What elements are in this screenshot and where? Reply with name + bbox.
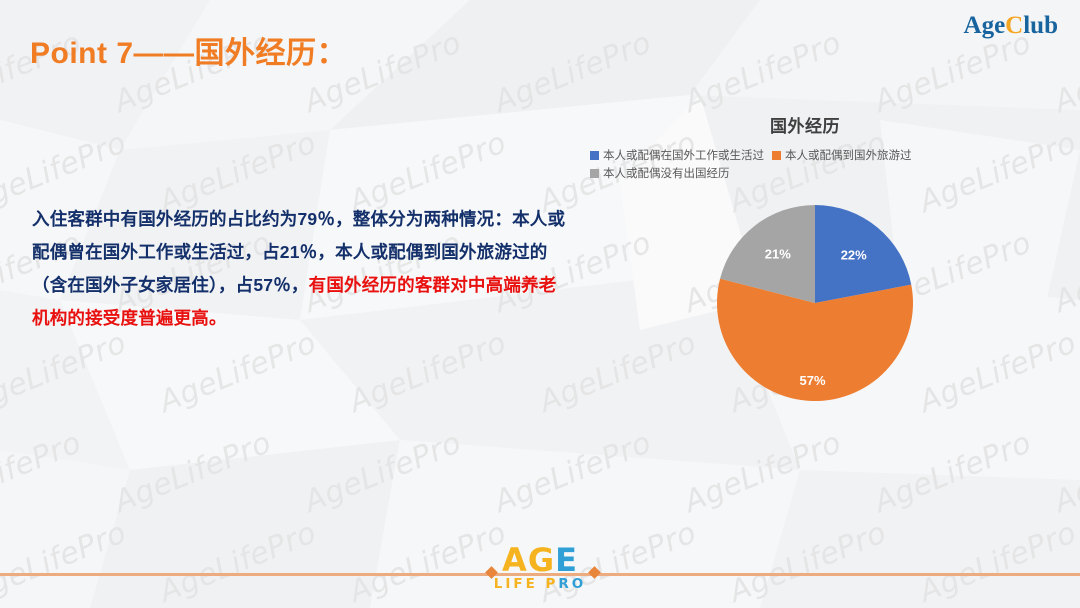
legend-row-2: 本人或配偶没有出国经历: [590, 166, 1020, 184]
footer-logo-subtitle: LIFE PRO: [0, 578, 1080, 592]
legend-swatch-2: [590, 169, 599, 178]
brand-logo-c: C: [1005, 12, 1023, 39]
page-title: Point 7——国外经历：: [30, 28, 347, 72]
footer-logo-letter-e: E: [555, 541, 578, 579]
pie-chart-panel: 国外经历 本人或配偶在国外工作或生活过 本人或配偶到国外旅游过 本人或配偶没有出…: [590, 100, 1020, 480]
legend-item-0[interactable]: 本人或配偶在国外工作或生活过: [590, 148, 764, 166]
legend-item-2[interactable]: 本人或配偶没有出国经历: [590, 166, 730, 184]
legend-row-1: 本人或配偶在国外工作或生活过 本人或配偶到国外旅游过: [590, 148, 1020, 166]
footer-logo-agelifepro: AGE LIFE PRO: [0, 544, 1080, 592]
brand-logo-lub: lub: [1023, 12, 1058, 39]
legend-swatch-0: [590, 151, 599, 160]
pie-data-label: 57%: [800, 373, 826, 388]
legend-label-0: 本人或配偶在国外工作或生活过: [603, 150, 764, 162]
pie-chart-svg: 22%57%21%: [715, 203, 915, 403]
pie-data-label: 22%: [841, 248, 867, 263]
pie-chart: 22%57%21%: [590, 195, 1020, 425]
footer-logo-age: AGE: [0, 544, 1080, 576]
pie-data-label: 21%: [765, 246, 791, 261]
brand-logo-age: Age: [964, 12, 1006, 39]
pie-slices: [717, 205, 913, 401]
chart-legend: 本人或配偶在国外工作或生活过 本人或配偶到国外旅游过 本人或配偶没有出国经历: [590, 148, 1020, 183]
chart-title: 国外经历: [590, 112, 1020, 137]
body-paragraph: 入住客群中有国外经历的占比约为79％，整体分为两种情况：本人或配偶曾在国外工作或…: [32, 203, 572, 335]
footer-logo-ro: RO: [558, 576, 586, 592]
legend-item-1[interactable]: 本人或配偶到国外旅游过: [772, 148, 912, 166]
legend-swatch-1: [772, 151, 781, 160]
legend-label-2: 本人或配偶没有出国经历: [603, 168, 730, 180]
footer-logo-p: P: [546, 576, 559, 592]
footer-logo-letter-g: G: [528, 541, 555, 579]
legend-label-1: 本人或配偶到国外旅游过: [785, 150, 912, 162]
brand-logo-ageclub: AgeClub: [964, 12, 1058, 40]
footer-logo-letter-a: A: [502, 541, 528, 579]
footer-logo-life: LIFE: [494, 576, 538, 592]
